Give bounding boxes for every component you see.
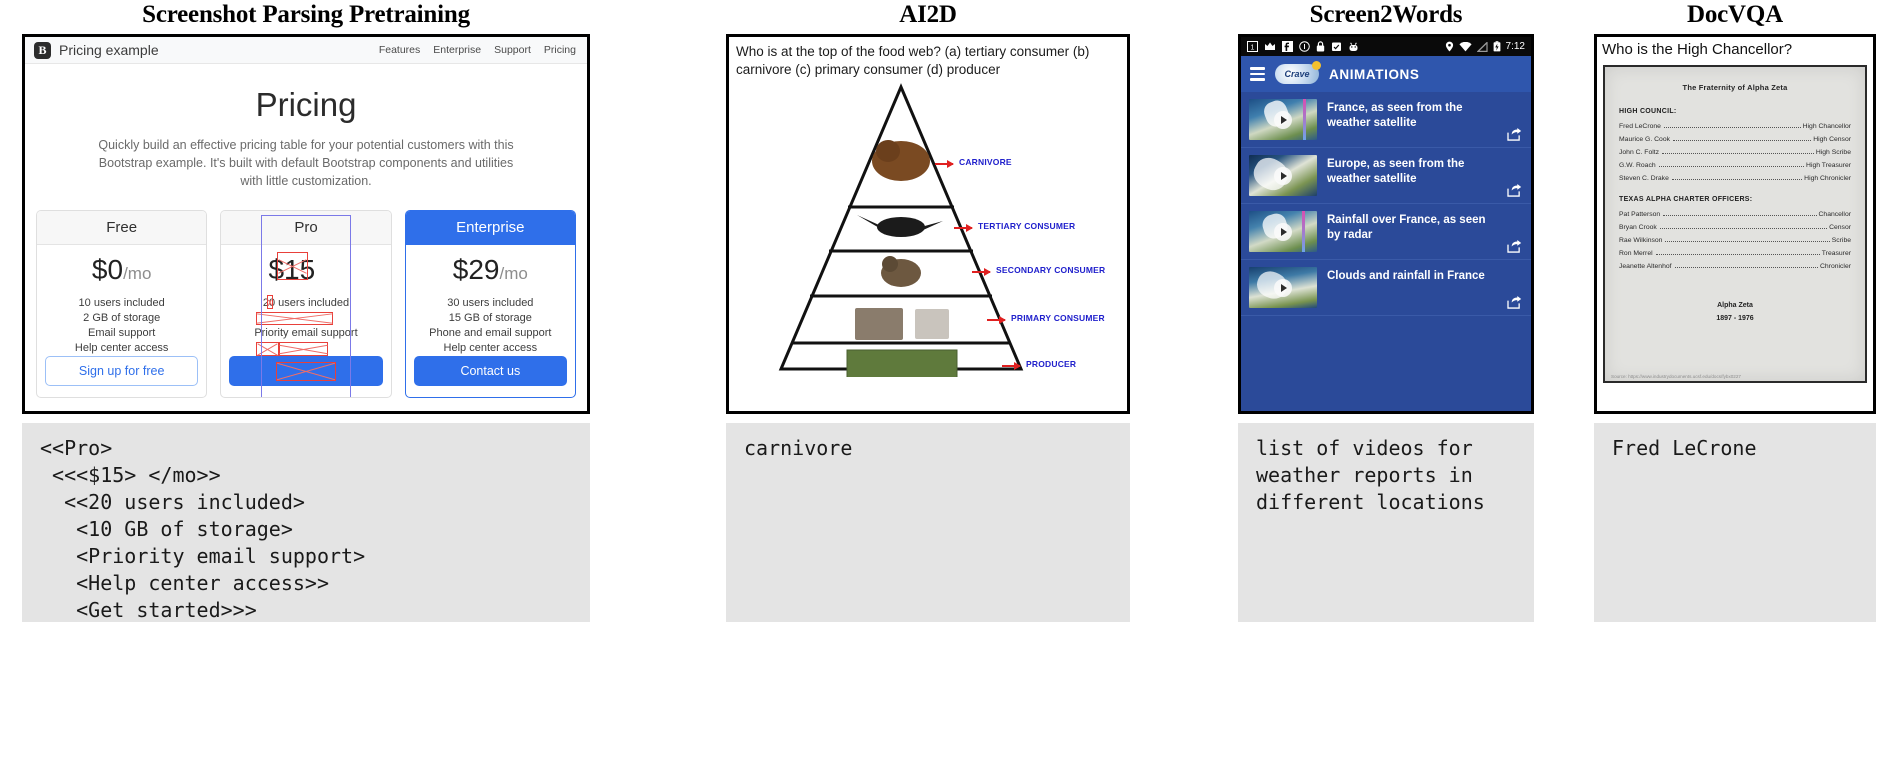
food-pyramid-diagram: CARNIVORE TERTIARY CONSUMER SECONDARY CO… (729, 81, 1127, 377)
answer-screen2words: list of videos for weather reports in di… (1238, 423, 1534, 622)
card-feature: Help center access (45, 341, 198, 356)
price-period: /mo (500, 264, 528, 283)
video-thumbnail[interactable] (1249, 99, 1317, 140)
roster-name: Jeanette Altenhof (1619, 260, 1672, 273)
arrow-primary-icon (987, 319, 1005, 321)
play-icon[interactable] (1274, 279, 1292, 297)
roster-row: Jeanette Altenhof Chronicler (1619, 260, 1851, 273)
roster-row: Fred LeCrone High Chancellor (1619, 120, 1851, 133)
roster-role: Chronicler (1820, 260, 1851, 273)
logo-dot-icon (1312, 61, 1321, 70)
roster-role: Treasurer (1822, 247, 1851, 260)
cta-sign-up-for-free[interactable]: Sign up for free (45, 356, 198, 386)
roster-row: Maurice G. Cook High Censor (1619, 133, 1851, 146)
arrow-secondary-icon (972, 271, 990, 273)
price-amount: $0 (92, 254, 123, 285)
lock-icon (1316, 41, 1325, 52)
crown-icon (1264, 41, 1276, 52)
roster-role: Censor (1829, 221, 1851, 234)
roster-name: Rae Wilkinson (1619, 234, 1662, 247)
roster-role: High Chronicler (1804, 172, 1851, 185)
list-item[interactable]: Europe, as seen from the weather satelli… (1241, 148, 1531, 204)
share-icon[interactable] (1507, 296, 1522, 309)
answer-parsing: <<Pro> <<<$15> </mo>> <<20 users include… (22, 423, 590, 622)
column-title-parsing: Screenshot Parsing Pretraining (22, 0, 590, 34)
status-clock: 7:12 (1506, 41, 1525, 52)
location-icon (1445, 41, 1454, 52)
label-secondary-consumer: SECONDARY CONSUMER (996, 265, 1105, 275)
pricing-card-pro[interactable]: Pro $15/mo 20 users included 10 GB of st… (220, 210, 391, 398)
roster-name: G.W. Roach (1619, 159, 1656, 172)
list-item-label: Europe, as seen from the weather satelli… (1327, 155, 1523, 187)
clipboard-icon (1331, 41, 1342, 52)
pricing-cards: Free $0/mo 10 users included 2 GB of sto… (25, 196, 587, 398)
list-item-label: France, as seen from the weather satelli… (1327, 99, 1523, 131)
card-title-free: Free (37, 211, 206, 245)
nav-item-features[interactable]: Features (379, 44, 420, 56)
leader-dots (1659, 166, 1804, 167)
label-carnivore: CARNIVORE (959, 157, 1012, 167)
price-amount: $29 (453, 254, 500, 285)
wifi-icon (1459, 42, 1472, 52)
roster-row: John C. Foltz High Scribe (1619, 146, 1851, 159)
card-price-enterprise: $29/mo (414, 256, 567, 284)
logo-text: Crave (1284, 69, 1309, 79)
video-thumbnail[interactable] (1249, 267, 1317, 308)
nav-item-pricing[interactable]: Pricing (544, 44, 576, 56)
roster-role: High Treasurer (1806, 159, 1851, 172)
leader-dots (1664, 127, 1801, 128)
video-thumbnail[interactable] (1249, 211, 1317, 252)
leader-dots (1673, 140, 1811, 141)
pricing-card-free[interactable]: Free $0/mo 10 users included 2 GB of sto… (36, 210, 207, 398)
bootstrap-logo-icon: B (34, 42, 51, 59)
pricing-card-enterprise[interactable]: Enterprise $29/mo 30 users included 15 G… (405, 210, 576, 398)
label-tertiary-consumer: TERTIARY CONSUMER (978, 221, 1075, 231)
roster-name: Pat Patterson (1619, 208, 1660, 221)
sim-icon: 1 (1247, 41, 1258, 52)
app-bar-title: ANIMATIONS (1329, 67, 1420, 82)
section-heading-high-council: HIGH COUNCIL: (1619, 108, 1851, 115)
section-heading-texas-alpha: TEXAS ALPHA CHARTER OFFICERS: (1619, 196, 1851, 203)
list-item[interactable]: Rainfall over France, as seen by radar (1241, 204, 1531, 260)
roster-role: Chancellor (1819, 208, 1852, 221)
card-title-pro: Pro (221, 211, 390, 245)
card-title-enterprise: Enterprise (406, 211, 575, 245)
answer-ai2d: carnivore (726, 423, 1130, 622)
video-list: France, as seen from the weather satelli… (1241, 92, 1531, 316)
docvqa-question: Who is the High Chancellor? (1597, 37, 1873, 63)
arrow-carnivore-icon (935, 163, 953, 165)
docvqa-panel: Who is the High Chancellor? The Fraterni… (1594, 34, 1876, 414)
nav-item-enterprise[interactable]: Enterprise (433, 44, 481, 56)
card-price-pro: $15/mo (229, 256, 382, 284)
roster-name: John C. Foltz (1619, 146, 1659, 159)
roster-row: Bryan Crook Censor (1619, 221, 1851, 234)
pricing-hero: Pricing Quickly build an effective prici… (25, 64, 587, 196)
leader-dots (1662, 153, 1814, 154)
mask-feature-help-a (256, 342, 279, 356)
hero-description: Quickly build an effective pricing table… (96, 136, 516, 190)
roster-row: G.W. Roach High Treasurer (1619, 159, 1851, 172)
site-topbar: B Pricing example Features Enterprise Su… (25, 37, 587, 64)
site-nav: Features Enterprise Support Pricing (379, 44, 578, 56)
mask-price-period (277, 252, 308, 280)
document-title: The Fraternity of Alpha Zeta (1619, 83, 1851, 92)
roster-name: Bryan Crook (1619, 221, 1657, 234)
card-feature: Help center access (229, 341, 382, 356)
play-icon[interactable] (1274, 223, 1292, 241)
column-screen2words: Screen2Words 1 7:12 (1238, 0, 1534, 622)
roster-name: Maurice G. Cook (1619, 133, 1670, 146)
list-item[interactable]: Clouds and rainfall in France (1241, 260, 1531, 316)
play-icon[interactable] (1274, 111, 1292, 129)
leader-dots (1665, 241, 1829, 242)
scanned-document-image: The Fraternity of Alpha Zeta HIGH COUNCI… (1603, 65, 1867, 383)
bootstrap-pricing-screenshot: B Pricing example Features Enterprise Su… (22, 34, 590, 414)
column-title-docvqa: DocVQA (1594, 0, 1876, 34)
roster-row: Ron Merrel Treasurer (1619, 247, 1851, 260)
roster-name: Steven C. Drake (1619, 172, 1669, 185)
android-icon (1348, 41, 1359, 52)
list-item-label: Rainfall over France, as seen by radar (1327, 211, 1523, 243)
ai2d-diagram-panel: Who is at the top of the food web? (a) t… (726, 34, 1130, 414)
roster-name: Fred LeCrone (1619, 120, 1661, 133)
arrow-producer-icon (1002, 365, 1020, 367)
footer-years: 1897 - 1976 (1619, 312, 1851, 325)
arrow-tertiary-icon (954, 227, 972, 229)
nav-item-support[interactable]: Support (494, 44, 531, 56)
roster-role: High Chancellor (1803, 120, 1851, 133)
card-feature: 20 users included (229, 296, 382, 311)
svg-text:1: 1 (1251, 45, 1255, 52)
figure-root: Screenshot Parsing Pretraining B Pricing… (0, 0, 1896, 782)
roster-name: Ron Merrel (1619, 247, 1653, 260)
android-status-bar: 1 7:12 (1241, 37, 1531, 56)
column-title-screen2words: Screen2Words (1238, 0, 1534, 34)
price-period: /mo (123, 264, 151, 283)
mask-cta-get-started (276, 362, 336, 381)
leader-dots (1663, 215, 1816, 216)
card-feature: Priority email support (229, 326, 382, 341)
footer-org-name: Alpha Zeta (1619, 299, 1851, 312)
mask-feature-digit (267, 295, 273, 309)
roster-role: Scribe (1832, 234, 1851, 247)
card-feature: 2 GB of storage (45, 311, 198, 326)
leader-dots (1656, 254, 1820, 255)
video-thumbnail[interactable] (1249, 155, 1317, 196)
document-footer: Alpha Zeta 1897 - 1976 (1619, 299, 1851, 325)
mask-feature-storage (256, 312, 333, 325)
card-feature: 10 users included (45, 296, 198, 311)
column-docvqa: DocVQA Who is the High Chancellor? The F… (1594, 0, 1876, 622)
leader-dots (1675, 267, 1818, 268)
info-icon (1299, 41, 1310, 52)
list-item-label: Clouds and rainfall in France (1327, 267, 1509, 284)
site-brand: Pricing example (59, 42, 159, 58)
share-icon[interactable] (1507, 128, 1522, 141)
card-feature: Help center access (414, 341, 567, 356)
mask-feature-help-b (279, 342, 328, 356)
card-feature: Email support (45, 326, 198, 341)
card-feature: 15 GB of storage (414, 311, 567, 326)
page-title: Pricing (25, 86, 587, 124)
play-icon[interactable] (1274, 167, 1292, 185)
card-feature: Phone and email support (414, 326, 567, 341)
label-primary-consumer: PRIMARY CONSUMER (1011, 313, 1105, 323)
app-bar: Crave ANIMATIONS (1241, 56, 1531, 92)
list-item[interactable]: France, as seen from the weather satelli… (1241, 92, 1531, 148)
document-source-note: Source: https://www.industrydocuments.uc… (1611, 374, 1741, 379)
leader-dots (1660, 228, 1827, 229)
label-producer: PRODUCER (1026, 359, 1076, 369)
roster-role: High Scribe (1816, 146, 1851, 159)
roster-row: Pat Patterson Chancellor (1619, 208, 1851, 221)
share-icon[interactable] (1507, 184, 1522, 197)
roster-row: Steven C. Drake High Chronicler (1619, 172, 1851, 185)
column-title-ai2d: AI2D (726, 0, 1130, 34)
cta-contact-us[interactable]: Contact us (414, 356, 567, 386)
hamburger-menu-icon[interactable] (1250, 67, 1265, 81)
card-price-free: $0/mo (45, 256, 198, 284)
column-screenshot-parsing: Screenshot Parsing Pretraining B Pricing… (22, 0, 590, 622)
roster-role: High Censor (1813, 133, 1851, 146)
android-app-screenshot: 1 7:12 Crave (1238, 34, 1534, 414)
answer-docvqa: Fred LeCrone (1594, 423, 1876, 622)
ai2d-question: Who is at the top of the food web? (a) t… (729, 37, 1127, 81)
battery-icon (1493, 41, 1501, 52)
weather-crave-logo: Crave (1275, 64, 1319, 84)
leader-dots (1672, 179, 1802, 180)
card-feature: 10 GB of storage (229, 311, 382, 326)
card-feature: 30 users included (414, 296, 567, 311)
share-icon[interactable] (1507, 240, 1522, 253)
roster-row: Rae Wilkinson Scribe (1619, 234, 1851, 247)
signal-icon (1477, 42, 1488, 52)
facebook-icon (1282, 41, 1293, 52)
card-feature-label: 20 users included (263, 297, 349, 309)
column-ai2d: AI2D Who is at the top of the food web? … (726, 0, 1130, 622)
